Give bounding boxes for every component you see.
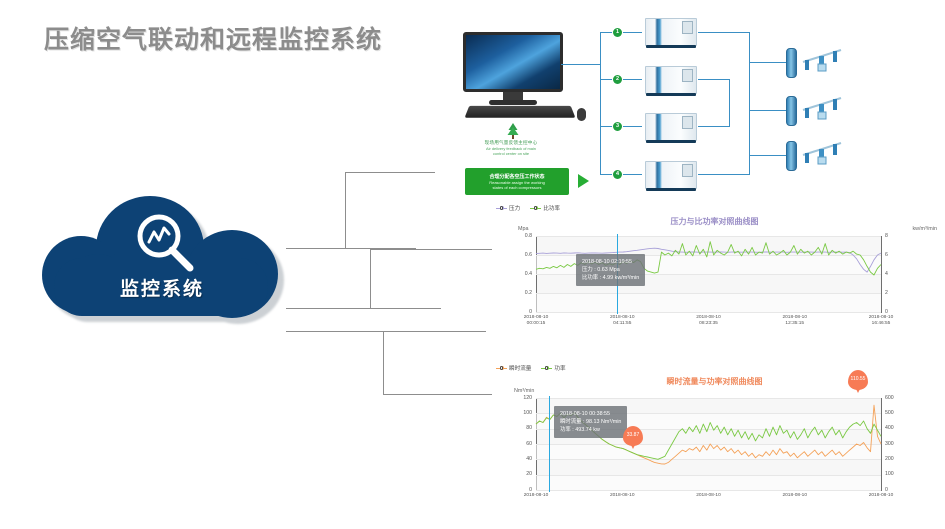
assign-status-box: 合理分配各空压工作状态 Reasonable assign the workin…	[465, 168, 569, 195]
y-tick-right: 600	[885, 395, 894, 401]
legend-label-power: 功率	[554, 364, 565, 372]
right-arrow-icon	[578, 174, 589, 188]
y-tick: 0.6	[504, 252, 532, 258]
y-tick-right: 400	[885, 425, 894, 431]
pipe-rig	[801, 46, 845, 76]
monitoring-cloud[interactable]: 监控系统	[36, 196, 294, 328]
y-tick: 40	[504, 456, 532, 462]
y-tick-right: 4	[885, 271, 888, 277]
legend-marker-power	[541, 365, 552, 371]
compressor-node-2[interactable]: 2	[613, 75, 622, 84]
legend-marker-flow	[496, 365, 507, 371]
y-tick: 0.8	[504, 233, 532, 239]
chart1-tooltip-line1: 压力 : 0.63 Mpa	[582, 266, 639, 274]
wire-tank-1	[749, 62, 787, 63]
air-tank[interactable]	[786, 141, 797, 171]
wire-vertical-bus	[600, 32, 601, 174]
wire-collector-2	[698, 79, 730, 80]
wire-collector-4	[698, 174, 750, 175]
chart1-right-axis	[881, 236, 882, 313]
y-tick: 0	[504, 487, 532, 493]
y-tick: 0	[504, 309, 532, 315]
compressed-air-system-diagram: 现场用气量反馈主控中心 Air delivery feedback of mai…	[437, 22, 937, 202]
slide-root: 压缩空气联动和远程监控系统 监控系统	[0, 0, 945, 529]
chart1-ylabel-right: kw/m³/min	[912, 226, 937, 232]
y-tick: 0.4	[504, 271, 532, 277]
chart2-tooltip-line1: 瞬时流量 : 98.13 Nm³/min	[560, 418, 621, 426]
y-tick-right: 500	[885, 410, 894, 416]
legend-marker-pressure	[496, 205, 507, 211]
chart2-max-marker-label: 110.55	[851, 376, 866, 382]
y-tick-right: 8	[885, 233, 888, 239]
legend-item-pressure[interactable]: 压力	[496, 204, 520, 212]
y-tick-right: 200	[885, 456, 894, 462]
x-tick: 2018-08-10	[773, 493, 817, 499]
chart1-tooltip-line2: 比功率 : 4.99 kw/m³/min	[582, 274, 639, 282]
y-tick: 20	[504, 471, 532, 477]
x-tick: 2018-08-1000:00:15	[514, 315, 558, 327]
chart2-min-marker-label: 33.87	[627, 432, 640, 438]
chart1-tooltip-timestamp: 2018-08-10 02:19:55	[582, 258, 639, 266]
legend-item-power[interactable]: 功率	[541, 364, 565, 372]
pipe-rig	[801, 139, 845, 169]
x-tick: 2018-08-1012:35:15	[773, 315, 817, 327]
compressor-node-3[interactable]: 3	[613, 122, 622, 131]
chart1-tooltip: 2018-08-10 02:19:55 压力 : 0.63 Mpa 比功率 : …	[576, 254, 645, 286]
chart1-ylabel-left: Mpa	[518, 226, 529, 232]
y-tick: 0.2	[504, 290, 532, 296]
x-tick: 2018-08-1016:46:55	[859, 315, 903, 327]
flow-vs-power-chart: 瞬时流量 功率 瞬时流量与功率对照曲线图 Nm³/min 02040608010…	[492, 362, 937, 522]
gridline	[536, 490, 881, 491]
wire-tank-2	[749, 110, 787, 111]
chart1-title: 压力与比功率对照曲线图	[492, 216, 937, 227]
wire-collector-3	[698, 126, 730, 127]
x-tick: 2018-08-1004:11:55	[600, 315, 644, 327]
air-tank[interactable]	[786, 96, 797, 126]
page-title: 压缩空气联动和远程监控系统	[44, 20, 382, 56]
chart2-right-axis	[881, 398, 882, 491]
y-tick-right: 6	[885, 252, 888, 258]
tree-icon	[505, 122, 521, 140]
chart2-cursor-line[interactable]	[549, 396, 550, 492]
compressor-unit[interactable]	[645, 159, 697, 191]
chart1-legend: 压力 比功率	[496, 204, 560, 212]
compressor-unit[interactable]	[645, 111, 697, 143]
gridline	[536, 312, 881, 313]
x-tick: 2018-08-10	[859, 493, 903, 499]
wire-collector-1	[698, 32, 750, 33]
legend-marker-specific-power	[530, 205, 541, 211]
control-center-caption-en-2: control center on site	[449, 151, 573, 156]
x-tick: 2018-08-1008:23:35	[687, 315, 731, 327]
wire-tank-3	[749, 155, 787, 156]
y-tick-right: 2	[885, 290, 888, 296]
wire-collector-vertical-b	[729, 79, 730, 126]
pressure-vs-specific-power-chart: 压力 比功率 压力与比功率对照曲线图 Mpa kw/m³/min 00.20.4…	[492, 202, 937, 332]
desktop-computer-icon	[463, 32, 563, 118]
chart2-ylabel-left: Nm³/min	[514, 388, 534, 394]
legend-label-specific-power: 比功率	[543, 204, 560, 212]
air-tank[interactable]	[786, 48, 797, 78]
y-tick: 120	[504, 395, 532, 401]
y-tick: 60	[504, 441, 532, 447]
y-tick: 80	[504, 425, 532, 431]
wire-collector-vertical-a	[749, 32, 750, 174]
compressor-unit[interactable]	[645, 64, 697, 96]
y-tick-right: 300	[885, 441, 894, 447]
y-tick-right: 0	[885, 309, 888, 315]
chart2-min-marker[interactable]: 33.87	[623, 426, 643, 446]
x-tick: 2018-08-10	[600, 493, 644, 499]
compressor-node-4[interactable]: 4	[613, 170, 622, 179]
wire-monitor-to-bus	[561, 64, 601, 65]
compressor-node-1[interactable]: 1	[613, 28, 622, 37]
x-tick: 2018-08-10	[514, 493, 558, 499]
magnifier-chart-icon	[132, 210, 198, 276]
chart2-tooltip-timestamp: 2018-08-10 00:38:55	[560, 410, 621, 418]
assign-status-en-2: states of each compressors	[493, 185, 542, 190]
legend-item-specific-power[interactable]: 比功率	[530, 204, 560, 212]
chart2-tooltip-line2: 功率 : 493.74 kw	[560, 426, 621, 434]
legend-label-flow: 瞬时流量	[509, 364, 531, 372]
pipe-rig	[801, 94, 845, 124]
chart2-legend: 瞬时流量 功率	[496, 364, 566, 372]
y-tick: 100	[504, 410, 532, 416]
cloud-label: 监控系统	[36, 274, 288, 301]
y-tick-right: 100	[885, 471, 894, 477]
chart2-max-marker[interactable]: 110.55	[848, 370, 868, 390]
legend-label-pressure: 压力	[509, 204, 520, 212]
x-tick: 2018-08-10	[687, 493, 731, 499]
chart2-title: 瞬时流量与功率对照曲线图	[492, 376, 937, 387]
chart2-tooltip: 2018-08-10 00:38:55 瞬时流量 : 98.13 Nm³/min…	[554, 406, 627, 438]
compressor-unit[interactable]	[645, 16, 697, 48]
legend-item-flow[interactable]: 瞬时流量	[496, 364, 531, 372]
y-tick-right: 0	[885, 487, 888, 493]
